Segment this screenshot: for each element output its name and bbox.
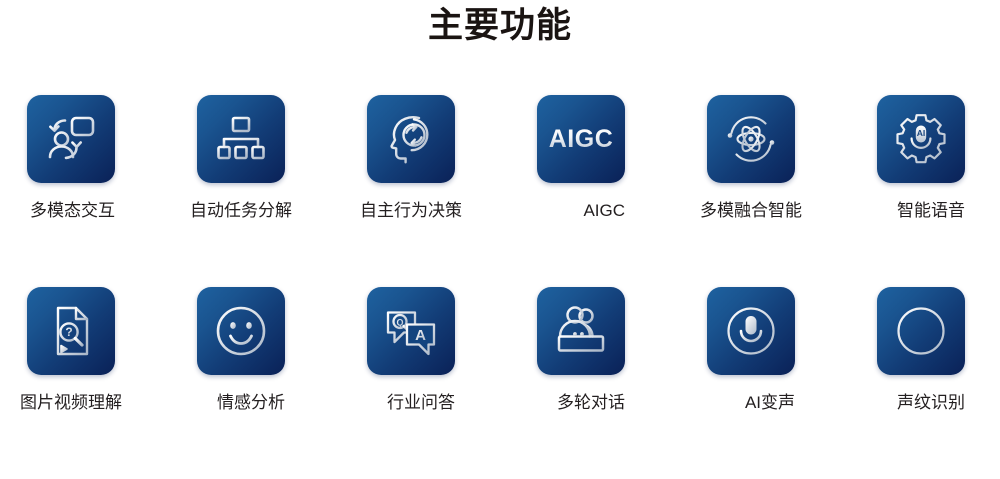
feature-label-wrap: 图片视频理解 — [27, 375, 115, 414]
feature-tile[interactable] — [27, 95, 115, 183]
feature-label: AI变声 — [745, 392, 795, 414]
feature-label: 多轮对话 — [557, 392, 625, 414]
feature-label: 行业问答 — [387, 392, 455, 414]
two-people-podium-icon — [553, 306, 609, 356]
svg-text:A: A — [415, 327, 426, 344]
atom-orbit-icon — [723, 111, 779, 167]
feature-label: 声纹识别 — [897, 392, 965, 414]
feature-tile[interactable] — [197, 95, 285, 183]
feature-item-aigc[interactable]: AIGC AIGC — [537, 95, 625, 222]
document-magnifier-question-icon: ? — [45, 304, 97, 358]
feature-label-wrap: 多模态交互 — [27, 183, 115, 222]
user-screen-exchange-icon — [43, 111, 99, 167]
feature-label-wrap: 自动任务分解 — [197, 183, 285, 222]
feature-label-wrap: 智能语音 — [877, 183, 965, 222]
feature-tile[interactable] — [707, 287, 795, 375]
feature-row-2: ? 图片视频理解 — [0, 287, 1000, 479]
feature-label: 智能语音 — [897, 200, 965, 222]
feature-label: 情感分析 — [217, 392, 285, 414]
feature-label-wrap: 情感分析 — [197, 375, 285, 414]
feature-label: AIGC — [583, 200, 625, 222]
feature-item-multi-turn-dialogue[interactable]: 多轮对话 — [537, 287, 625, 414]
feature-row-1: 多模态交互 — [0, 95, 1000, 287]
svg-text:AI: AI — [917, 128, 926, 138]
feature-label-wrap: 行业问答 — [367, 375, 455, 414]
feature-tile[interactable]: Q A — [367, 287, 455, 375]
feature-label: 自主行为决策 — [360, 200, 462, 222]
feature-label: 自动任务分解 — [190, 200, 292, 222]
gear-ai-microphone-icon: AI — [893, 111, 949, 167]
feature-tile[interactable] — [707, 95, 795, 183]
feature-item-image-video-understanding[interactable]: ? 图片视频理解 — [27, 287, 115, 414]
feature-label-wrap: AI变声 — [707, 375, 795, 414]
aigc-text-icon: AIGC — [549, 127, 614, 152]
feature-grid: 多模态交互 — [0, 95, 1000, 479]
feature-tile[interactable] — [537, 287, 625, 375]
feature-item-auto-task-decomposition[interactable]: 自动任务分解 — [197, 95, 285, 222]
voiceprint-waveform-circle-icon — [894, 304, 948, 358]
hierarchy-tree-icon — [215, 113, 267, 165]
feature-label: 多模态交互 — [30, 200, 115, 222]
feature-label-wrap: 声纹识别 — [877, 375, 965, 414]
feature-label-wrap: 自主行为决策 — [367, 183, 455, 222]
feature-item-industry-qa[interactable]: Q A 行业问答 — [367, 287, 455, 414]
feature-tile[interactable]: AI — [877, 95, 965, 183]
smiley-face-icon — [214, 304, 268, 358]
svg-text:?: ? — [65, 325, 72, 339]
feature-label-wrap: 多模融合智能 — [707, 183, 795, 222]
feature-item-multimodal-interaction[interactable]: 多模态交互 — [27, 95, 115, 222]
feature-item-voiceprint-recognition[interactable]: 声纹识别 — [877, 287, 965, 414]
qa-speech-bubbles-icon: Q A — [383, 305, 439, 357]
head-refresh-icon — [384, 112, 438, 166]
feature-label: 图片视频理解 — [20, 392, 122, 414]
feature-tile[interactable]: ? — [27, 287, 115, 375]
feature-tile[interactable] — [197, 287, 285, 375]
feature-tile[interactable] — [877, 287, 965, 375]
feature-tile[interactable]: AIGC — [537, 95, 625, 183]
feature-label-wrap: 多轮对话 — [537, 375, 625, 414]
microphone-circle-icon — [724, 304, 778, 358]
feature-item-multimodal-fusion[interactable]: 多模融合智能 — [707, 95, 795, 222]
feature-item-intelligent-voice[interactable]: AI 智能语音 — [877, 95, 965, 222]
svg-text:Q: Q — [396, 318, 403, 328]
feature-item-ai-voice-changer[interactable]: AI变声 — [707, 287, 795, 414]
feature-label: 多模融合智能 — [700, 200, 802, 222]
page-title: 主要功能 — [0, 2, 1000, 50]
feature-label-wrap: AIGC — [537, 183, 625, 222]
feature-item-sentiment-analysis[interactable]: 情感分析 — [197, 287, 285, 414]
feature-item-autonomous-decision[interactable]: 自主行为决策 — [367, 95, 455, 222]
feature-tile[interactable] — [367, 95, 455, 183]
